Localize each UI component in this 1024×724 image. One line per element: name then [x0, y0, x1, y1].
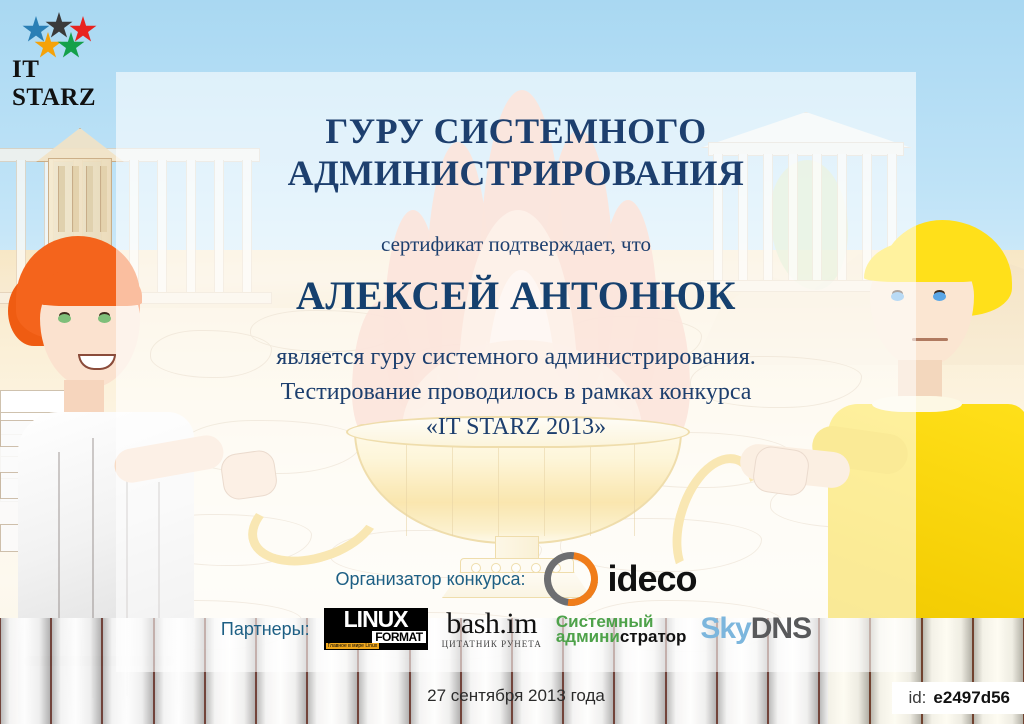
skydns-dns-text: DNS [751, 612, 811, 645]
woman-eye-left [58, 314, 71, 323]
certificate-content: ГУРУ СИСТЕМНОГО АДМИНИСТРИРОВАНИЯ сертиф… [116, 72, 916, 724]
organizer-row: Организатор конкурса: ideco [116, 552, 916, 606]
id-label: id: [908, 688, 926, 708]
partner-skydns-logo[interactable]: SkyDNS [700, 612, 811, 646]
bash-im-subtitle: ЦИТАТНИК РУНЕТА [442, 640, 542, 649]
confirmation-text: сертификат подтверждает, что [116, 232, 916, 257]
id-value: e2497d56 [933, 688, 1010, 708]
linux-format-title: LINUX [324, 608, 428, 631]
sysadmin-subtitle-black: стратор [620, 627, 687, 646]
issue-date: 27 сентября 2013 года [116, 686, 916, 706]
certificate-title: ГУРУ СИСТЕМНОГО АДМИНИСТРИРОВАНИЯ [116, 110, 916, 194]
star-black-icon [45, 12, 73, 40]
recipient-name: АЛЕКСЕЙ АНТОНЮК [116, 272, 916, 319]
partner-sistemny-administrator-logo[interactable]: Системный администратор [556, 613, 687, 645]
it-starz-logo[interactable]: IT STARZ [12, 10, 120, 88]
body-line-3: «IT STARZ 2013» [116, 410, 916, 445]
certificate-canvas: IT STARZ ГУРУ СИСТЕМНОГО АДМИНИСТРИРОВАН… [0, 0, 1024, 724]
sysadmin-subtitle: администратор [556, 628, 687, 645]
partner-linux-format-logo[interactable]: LINUX FORMAT Главное в мире Linux [324, 608, 428, 650]
partners-label: Партнеры: [221, 619, 310, 640]
linux-format-subtitle: FORMAT [372, 631, 425, 643]
skydns-sky-text: Sky [700, 612, 750, 645]
logo-stars [12, 10, 120, 54]
logo-wordmark: IT STARZ [12, 56, 120, 112]
ideco-logo[interactable]: ideco [544, 552, 697, 606]
partner-bash-im-logo[interactable]: bash.im ЦИТАТНИК РУНЕТА [442, 609, 542, 649]
body-line-1: является гуру системного администрирован… [116, 340, 916, 375]
certificate-id-chip: id: e2497d56 [892, 682, 1024, 714]
linux-format-tagline: Главное в мире Linux [326, 643, 380, 649]
woman-eye-right [98, 314, 111, 323]
organizer-label: Организатор конкурса: [335, 569, 525, 590]
bash-im-title: bash.im [446, 609, 537, 639]
ideco-swirl-icon [533, 541, 609, 617]
certificate-body: является гуру системного администрирован… [116, 340, 916, 445]
sysadmin-subtitle-green: админи [556, 627, 620, 646]
title-line-1: ГУРУ СИСТЕМНОГО [116, 110, 916, 152]
man-mouth [912, 338, 948, 341]
title-line-2: АДМИНИСТРИРОВАНИЯ [116, 152, 916, 194]
man-eye-right [933, 292, 946, 301]
partners-row: Партнеры: LINUX FORMAT Главное в мире Li… [116, 608, 916, 650]
body-line-2: Тестирование проводилось в рамках конкур… [116, 375, 916, 410]
ideco-wordmark: ideco [608, 558, 697, 600]
